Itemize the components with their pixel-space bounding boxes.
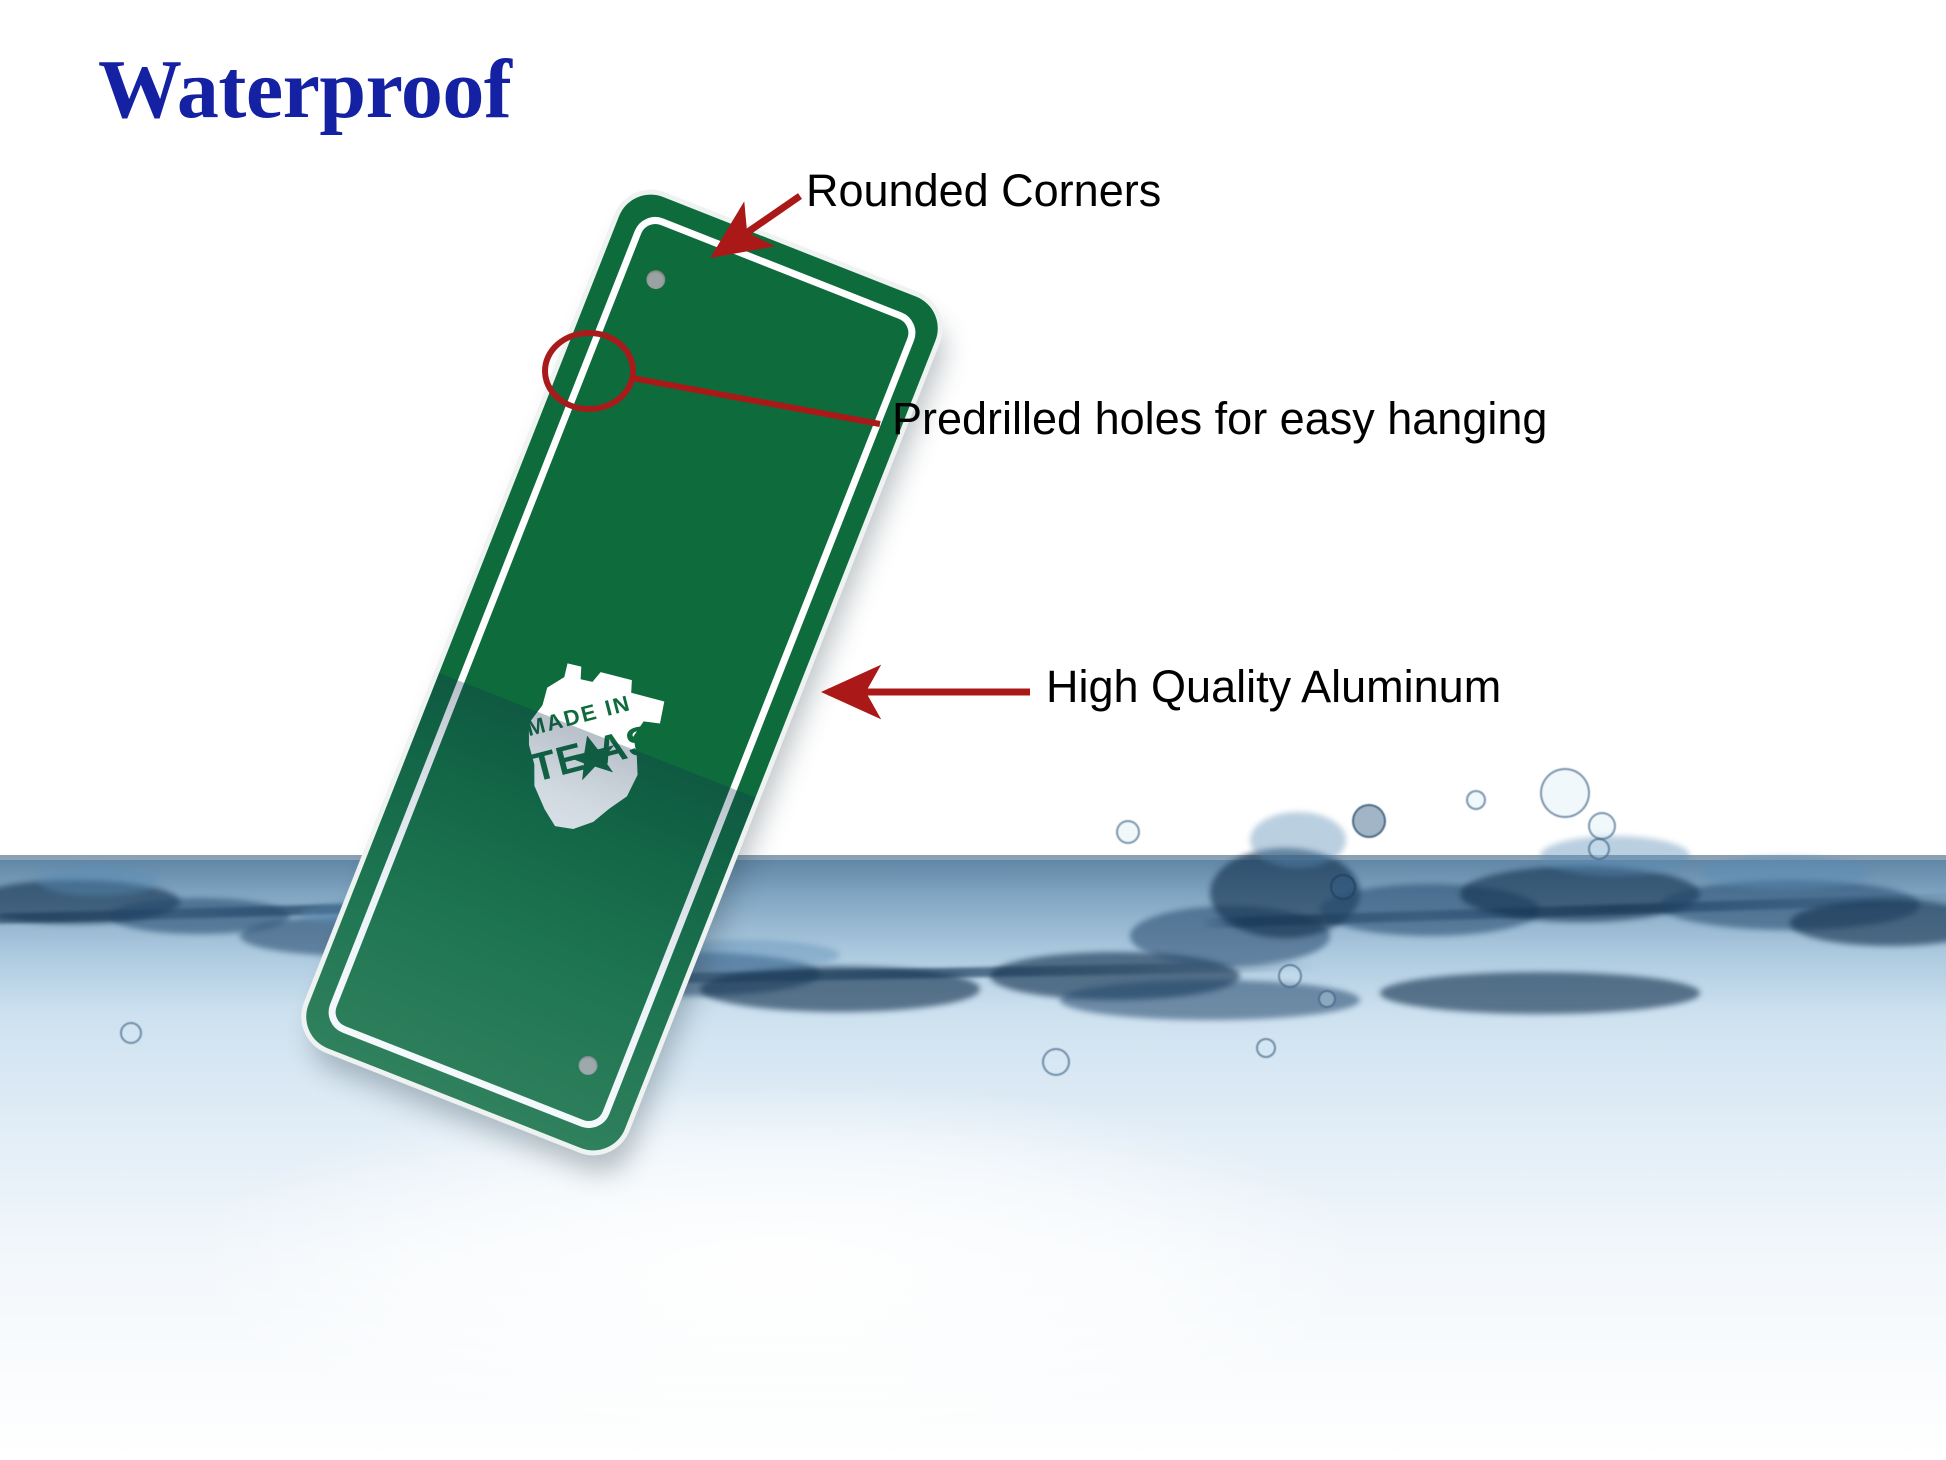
callout-label-predrilled-holes: Predrilled holes for easy hanging (892, 396, 1547, 441)
product-infographic: MADE IN TE AS Waterproof (0, 0, 1946, 1460)
callout-label-rounded-corners: Rounded Corners (806, 168, 1161, 213)
annotation-layer (0, 0, 1946, 1460)
rounded-corners-leader (716, 196, 800, 254)
predrilled-holes-leader (632, 378, 880, 424)
callout-label-high-quality-aluminum: High Quality Aluminum (1046, 664, 1501, 709)
predrilled-hole-highlight-circle (545, 333, 633, 409)
